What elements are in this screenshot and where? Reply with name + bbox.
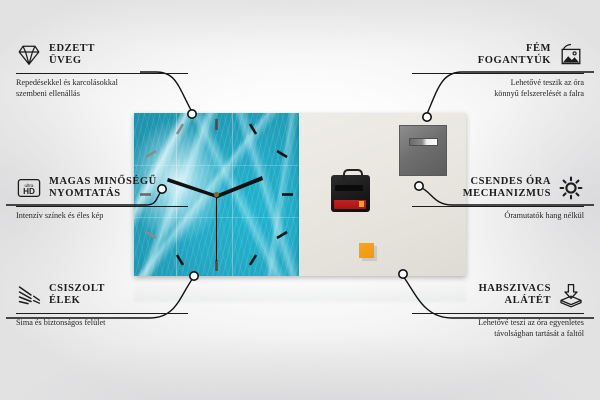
feature-csendes-ora-mechanizmus: CSENDES ÓRA MECHANIZMUS Óramutatók hang …	[412, 173, 584, 222]
feature-title: HABSZIVACS ALÁTÉT	[479, 283, 551, 307]
feature-description: Repedésekkel és karcolásokkal szembeni e…	[16, 78, 188, 99]
feature-csiszolt-elek: CSISZOLT ÉLEK Sima és biztonságos felüle…	[16, 280, 188, 329]
feature-description: Lehetővé teszi az óra egyenletes távolsá…	[412, 318, 584, 339]
mechanism-loop	[343, 169, 363, 180]
divider	[412, 73, 584, 74]
feature-fem-fogantyuk: FÉM FOGANTYÚK Lehetővé teszik az óra kön…	[412, 40, 584, 99]
feature-magas-minosegu-nyomtatas: ultra HD MAGAS MINŐSÉGŰ NYOMTATÁS Intenz…	[16, 173, 188, 222]
feature-habszivacs-alatet: HABSZIVACS ALÁTÉT Lehetővé teszi az óra …	[412, 280, 584, 339]
metal-hanger-plate	[399, 125, 447, 176]
divider	[412, 313, 584, 314]
wall-mount-frame-icon	[558, 42, 584, 68]
diamond-icon	[16, 42, 42, 68]
feature-title: CSISZOLT ÉLEK	[49, 283, 105, 307]
divider	[16, 313, 188, 314]
foam-pad-spacer	[359, 243, 374, 258]
feature-title: CSENDES ÓRA MECHANIZMUS	[463, 176, 551, 200]
hanger-slot	[409, 138, 438, 146]
foam-pad-icon	[558, 282, 584, 308]
feature-description: Óramutatók hang nélkül	[412, 211, 584, 222]
polished-edges-icon	[16, 282, 42, 308]
svg-text:HD: HD	[23, 187, 35, 196]
divider	[412, 206, 584, 207]
gear-icon	[558, 175, 584, 201]
feature-description: Intenzív színek és éles kép	[16, 211, 188, 222]
ultra-hd-icon: ultra HD	[16, 175, 42, 201]
mechanism-strip	[335, 185, 363, 191]
feature-title: EDZETT ÜVEG	[49, 43, 95, 67]
battery-compartment	[334, 200, 366, 209]
clock-mechanism	[331, 175, 370, 212]
feature-edzett-uveg: EDZETT ÜVEG Repedésekkel és karcolásokka…	[16, 40, 188, 99]
feature-description: Sima és biztonságos felület	[16, 318, 188, 329]
feature-description: Lehetővé teszik az óra könnyű felszerelé…	[412, 78, 584, 99]
product-infographic: EDZETT ÜVEG Repedésekkel és karcolásokka…	[0, 0, 600, 400]
divider	[16, 206, 188, 207]
feature-title: FÉM FOGANTYÚK	[478, 43, 551, 67]
feature-title: MAGAS MINŐSÉGŰ NYOMTATÁS	[49, 176, 157, 200]
divider	[16, 73, 188, 74]
